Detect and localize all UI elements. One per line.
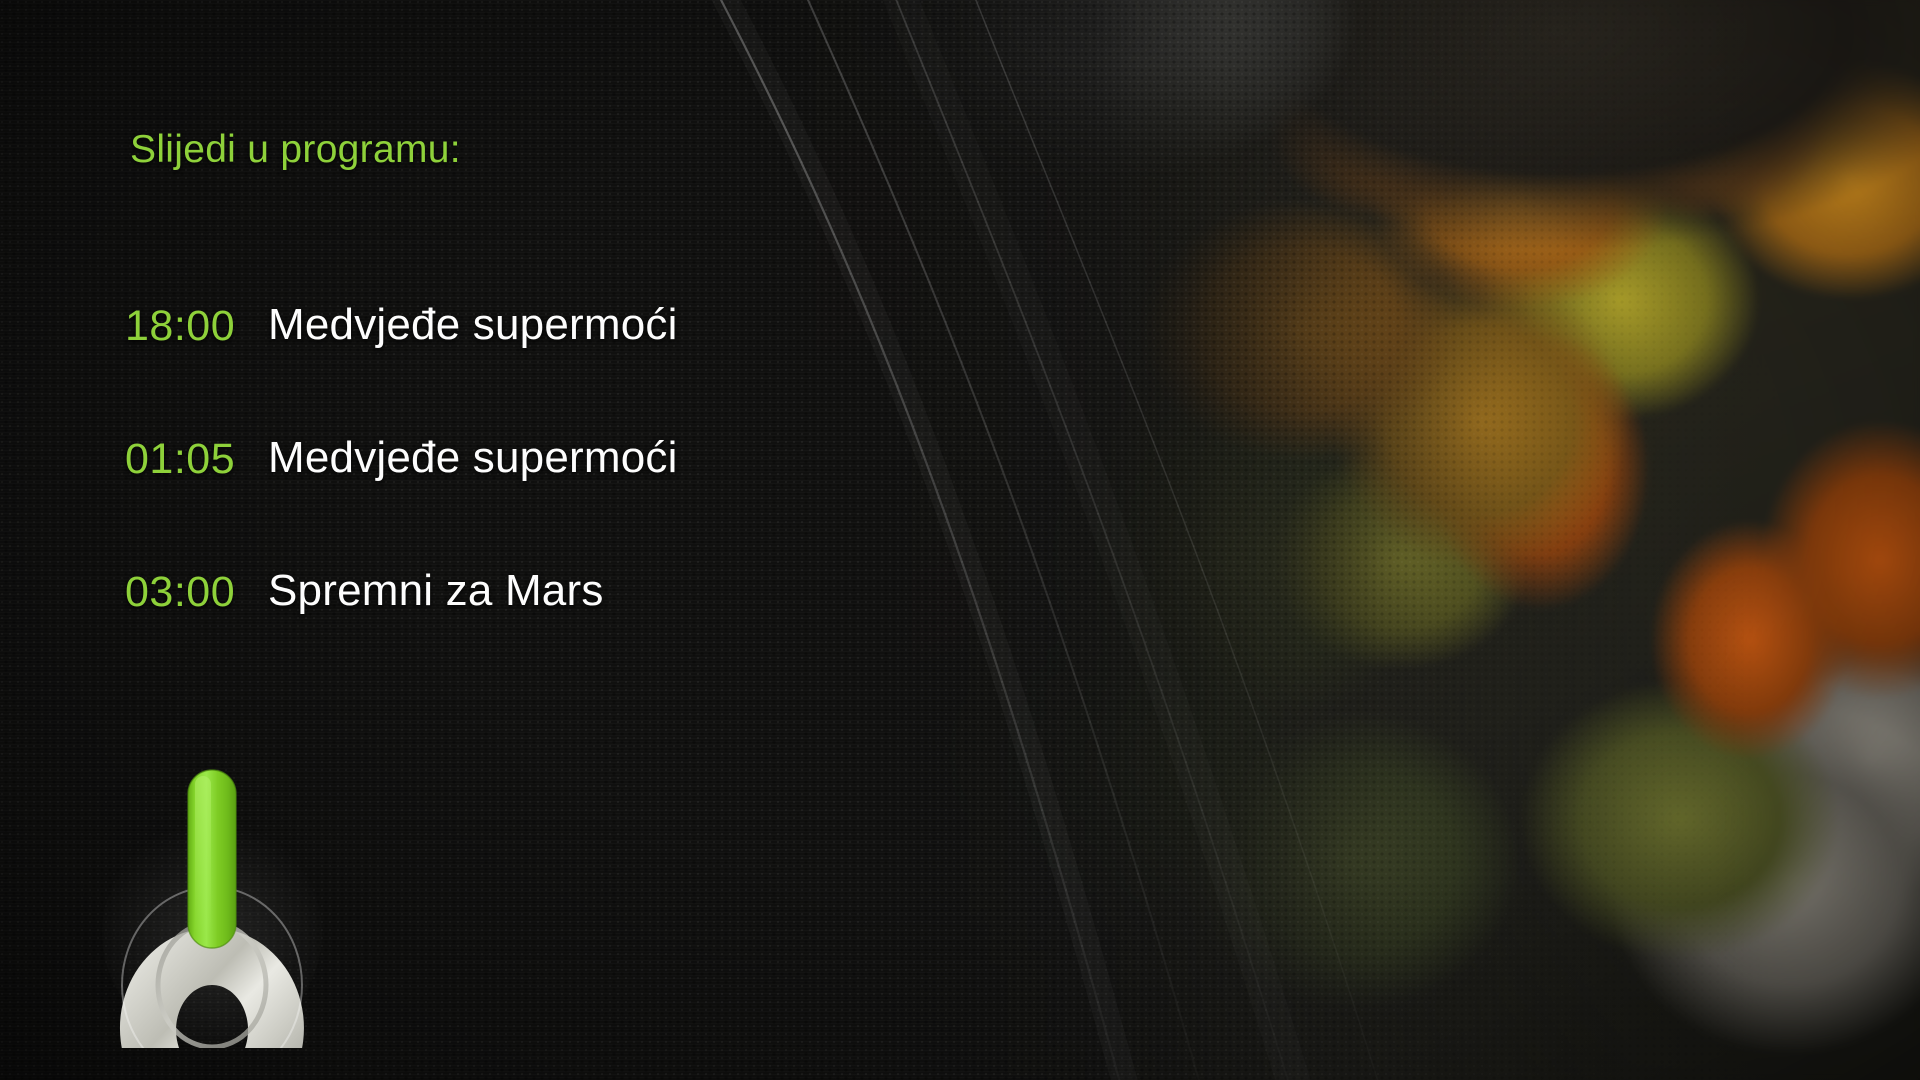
schedule-row: 03:00 Spremni za Mars <box>0 552 900 685</box>
schedule-time: 03:00 <box>125 568 280 617</box>
up-next-heading: Slijedi u programu: <box>130 128 461 172</box>
tv-broadcast-screen: Slijedi u programu: 18:00 Medvjeđe super… <box>0 0 1920 1080</box>
schedule-title: Medvjeđe supermoći <box>268 300 678 350</box>
schedule-row: 18:00 Medvjeđe supermoći <box>0 286 900 419</box>
schedule-title: Spremni za Mars <box>268 566 604 616</box>
schedule-title: Medvjeđe supermoći <box>268 433 678 483</box>
schedule-time: 01:05 <box>125 435 280 484</box>
schedule-time: 18:00 <box>125 302 280 351</box>
schedule-row: 01:05 Medvjeđe supermoći <box>0 419 900 552</box>
schedule-list: 18:00 Medvjeđe supermoći 01:05 Medvjeđe … <box>0 286 900 685</box>
power-button-logo-icon <box>92 748 342 1048</box>
